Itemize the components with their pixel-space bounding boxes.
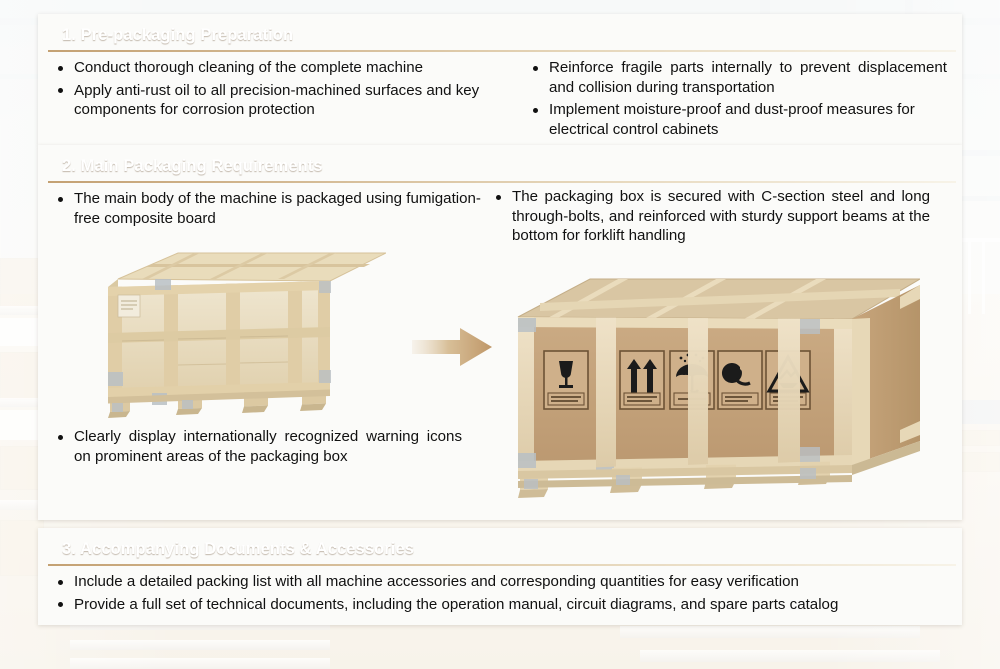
plywood-crate-illustration — [86, 245, 386, 420]
plywood-shipping-crate-photo — [86, 245, 386, 420]
list-item: Conduct thorough cleaning of the complet… — [52, 58, 522, 78]
list-item: The packaging box is secured with C-sect… — [490, 187, 930, 246]
section-2-header: 2. Main Packaging Requirements — [48, 151, 956, 181]
list-item: The main body of the machine is packaged… — [52, 189, 492, 228]
section-2-left-lower-list: Clearly display internationally recogniz… — [52, 427, 462, 469]
no-hand-hook-icon — [718, 351, 762, 409]
list-item: Clearly display internationally recogniz… — [52, 427, 462, 466]
section-3-list: Include a detailed packing list with all… — [52, 572, 948, 617]
section-2-panel: 2. Main Packaging Requirements The main … — [38, 145, 962, 520]
section-3-header: 3. Accompanying Documents & Accessories — [48, 534, 956, 564]
list-item: Provide a full set of technical document… — [52, 595, 948, 615]
brown-shipping-crate-with-warning-labels-photo — [500, 275, 920, 505]
section-1-left-list: Conduct thorough cleaning of the complet… — [52, 58, 522, 123]
section-1-header: 1. Pre-packaging Preparation — [48, 20, 956, 50]
fragile-icon — [544, 351, 588, 409]
list-item: Apply anti-rust oil to all precision-mac… — [52, 81, 522, 120]
arrow-right-glyph — [410, 323, 494, 371]
list-item: Reinforce fragile parts internally to pr… — [527, 58, 947, 97]
section-2-left-list: The main body of the machine is packaged… — [52, 189, 492, 231]
section-1-title: 1. Pre-packaging Preparation — [48, 26, 293, 45]
section-2-right-list: The packaging box is secured with C-sect… — [490, 187, 930, 249]
section-3-title: 3. Accompanying Documents & Accessories — [48, 540, 414, 559]
list-item: Implement moisture-proof and dust-proof … — [527, 100, 947, 139]
section-1-right-list: Reinforce fragile parts internally to pr… — [527, 58, 947, 142]
section-1-panel: 1. Pre-packaging Preparation Conduct tho… — [38, 14, 962, 145]
this-side-up-icon — [620, 351, 664, 409]
list-item: Include a detailed packing list with all… — [52, 572, 948, 592]
section-3-panel: 3. Accompanying Documents & Accessories … — [38, 528, 962, 625]
brown-crate-illustration — [500, 275, 920, 505]
section-2-title: 2. Main Packaging Requirements — [48, 157, 323, 176]
slide-canvas: 1. Pre-packaging Preparation Conduct tho… — [0, 0, 1000, 669]
process-arrow-icon — [410, 323, 494, 371]
